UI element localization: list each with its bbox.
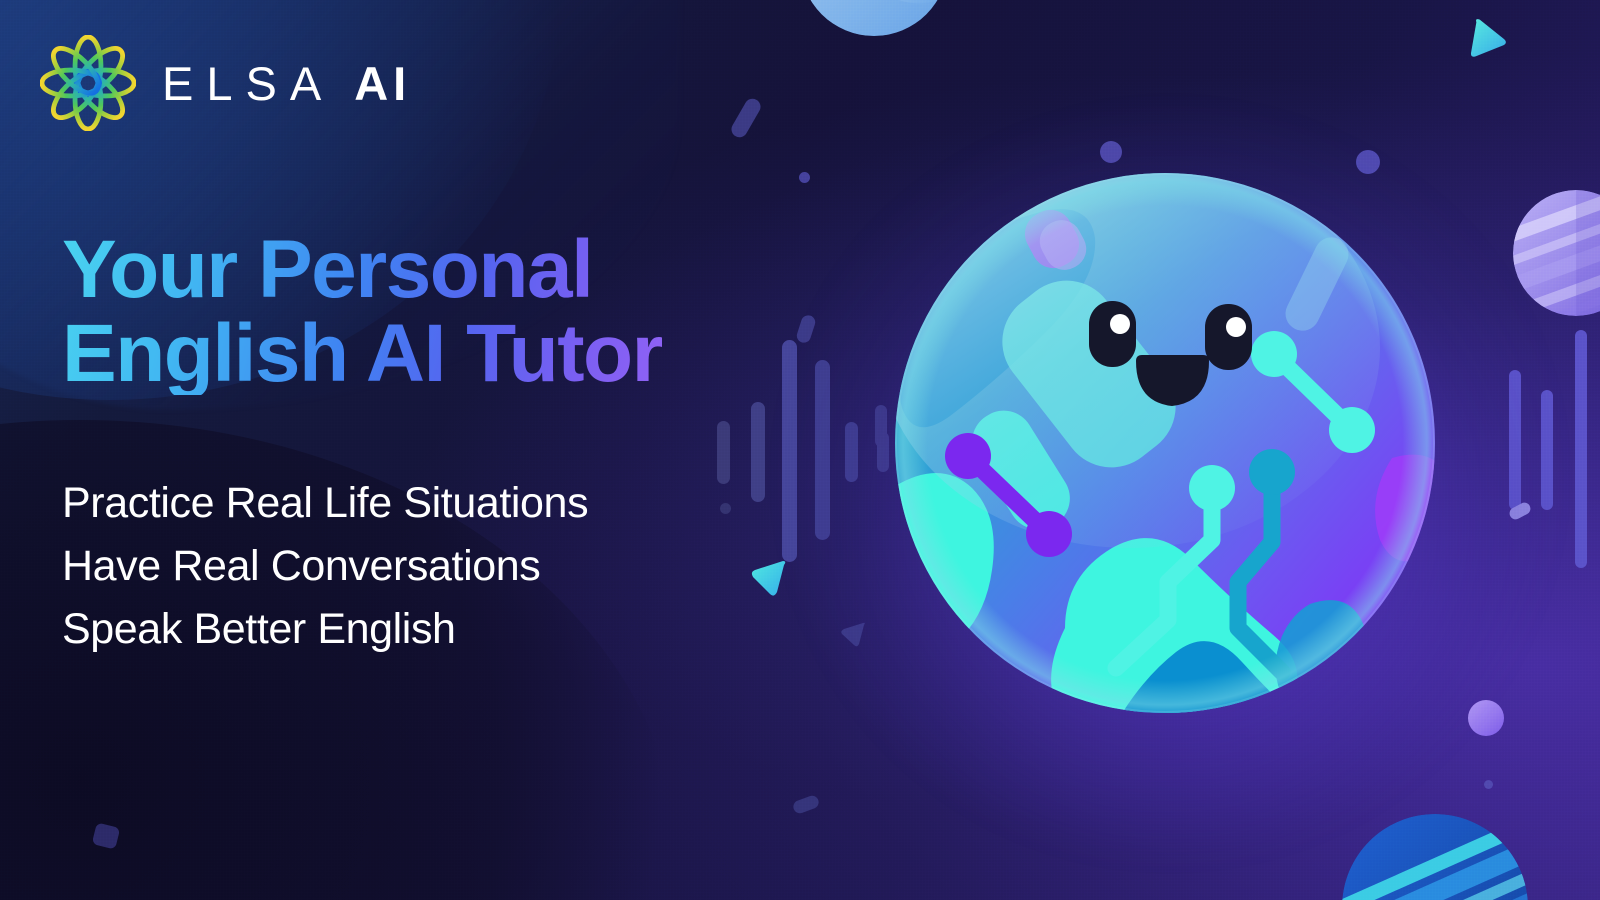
hero-bullet-list: Practice Real Life Situations Have Real … [62,472,588,660]
planet-purple-striped-graphic [1513,190,1600,316]
globe-mascot [880,158,1450,728]
headline-line-1: Your Personal [62,224,592,315]
decor-triangle-navy-lower [809,652,835,676]
planet-blue-striped-graphic [1342,814,1528,900]
soundwave-bar-right-3 [1575,330,1587,568]
planet-blue-striped-bottom-right [1342,814,1528,900]
mascot-eye-right-highlight [1226,317,1246,337]
soundwave-dot-left [720,503,731,514]
hero-bullet-2: Have Real Conversations [62,535,588,598]
brand-name-primary: ELSA [162,60,334,107]
planet-purple-striped-right [1513,190,1600,316]
decor-rounded-bar-bottom [792,794,821,815]
brand-wordmark: ELSA AI [162,60,411,107]
planet-light-blue-top-graphic [800,0,948,36]
hero-bullet-3: Speak Better English [62,598,588,661]
soundwave-bar-1 [717,421,730,484]
brand-logo[interactable]: ELSA AI [40,35,411,131]
decor-dot-tiny-left [799,172,810,183]
mascot-eye-right [1205,304,1252,370]
page-title: Your Personal English AI Tutor [62,228,662,395]
hero-banner: ELSA AI Your Personal English AI Tutor P… [0,0,1600,900]
mascot-eye-left [1089,301,1136,367]
planet-light-blue-top [800,0,948,36]
decor-dot-bottom-right [1484,780,1493,789]
brand-name-secondary: AI [354,60,411,107]
decor-rounded-bar-top [729,96,764,140]
mascot-eye-left-highlight [1110,314,1130,334]
planet-small-violet-bottom-right [1468,700,1504,736]
headline-line-2: English AI Tutor [62,312,662,396]
elsa-flower-logo-icon [40,35,136,131]
globe-mascot-graphic [880,158,1450,728]
hero-bullet-1: Practice Real Life Situations [62,472,588,535]
soundwave-bar-2 [751,402,765,502]
decor-triangle-cyan-left [748,558,790,598]
decor-triangle-cyan-topright [1466,18,1510,62]
